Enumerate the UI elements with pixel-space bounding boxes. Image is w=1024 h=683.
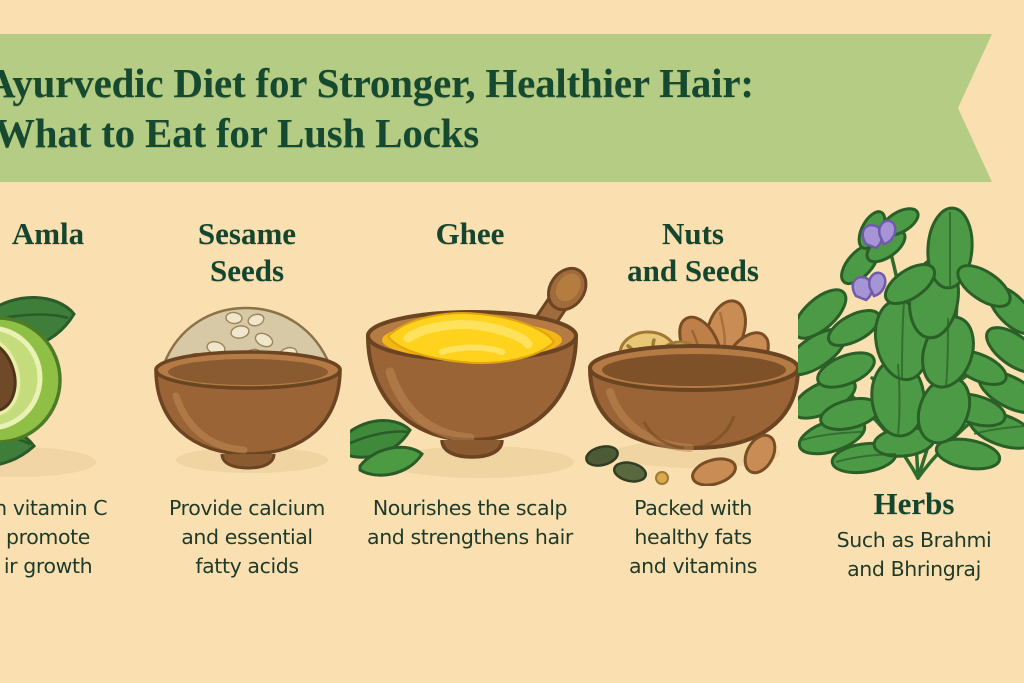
sesame-caption-line-1: Provide calcium (152, 494, 342, 523)
column-herbs: Herbs Such as Brahmi and Bhringraj (796, 182, 1024, 683)
column-sesame-seeds: Sesame Seeds (152, 182, 342, 683)
column-nuts-and-seeds: Nuts and Seeds (588, 182, 798, 683)
title-banner: Ayurvedic Diet for Stronger, Healthier H… (0, 34, 992, 182)
sesame-caption: Provide calcium and essential fatty acid… (152, 494, 342, 581)
herb-plant-icon (798, 192, 1024, 482)
title-line-1: Ayurvedic Diet for Stronger, Healthier H… (0, 58, 992, 108)
herbs-caption: Such as Brahmi and Bhringraj (796, 526, 1024, 584)
ghee-caption-line-2: and strengthens hair (350, 523, 590, 552)
nuts-caption: Packed with healthy fats and vitamins (588, 494, 798, 581)
herbs-caption-line-1: Such as Brahmi (796, 526, 1024, 555)
nuts-caption-line-2: healthy fats (588, 523, 798, 552)
nuts-heading-line-1: Nuts (588, 216, 798, 253)
amla-caption-line-2: promote (0, 523, 158, 552)
ghee-caption-line-1: Nourishes the scalp (350, 494, 590, 523)
ghee-caption: Nourishes the scalp and strengthens hair (350, 494, 590, 552)
sesame-caption-line-3: fatty acids (152, 552, 342, 581)
amla-berries-icon (0, 262, 118, 492)
sesame-seed-bowl-icon (148, 292, 348, 482)
nuts-heading-line-2: and Seeds (588, 253, 798, 290)
column-ghee: Ghee (350, 182, 590, 683)
nuts-caption-line-1: Packed with (588, 494, 798, 523)
sesame-heading-line-1: Sesame (152, 216, 342, 253)
nuts-caption-line-3: and vitamins (588, 552, 798, 581)
amla-heading: Amla (0, 216, 158, 253)
sesame-caption-line-2: and essential (152, 523, 342, 552)
herbs-caption-line-2: and Bhringraj (796, 555, 1024, 584)
herbs-heading: Herbs (796, 486, 1024, 523)
title-line-2: What to Eat for Lush Locks (0, 108, 992, 158)
nuts-heading: Nuts and Seeds (588, 216, 798, 289)
column-amla: Amla (0, 182, 158, 683)
sesame-heading-line-2: Seeds (152, 253, 342, 290)
nuts-and-seeds-bowl-icon (584, 296, 804, 486)
ghee-bowl-with-spoon-icon (350, 244, 595, 484)
sesame-heading: Sesame Seeds (152, 216, 342, 289)
amla-caption-line-3: ir growth (0, 552, 158, 581)
title-text-block: Ayurvedic Diet for Stronger, Healthier H… (0, 34, 992, 182)
amla-caption-line-1: in vitamin C (0, 494, 158, 523)
infographic-poster: Ayurvedic Diet for Stronger, Healthier H… (0, 0, 1024, 683)
amla-caption: in vitamin C promote ir growth (0, 494, 158, 581)
